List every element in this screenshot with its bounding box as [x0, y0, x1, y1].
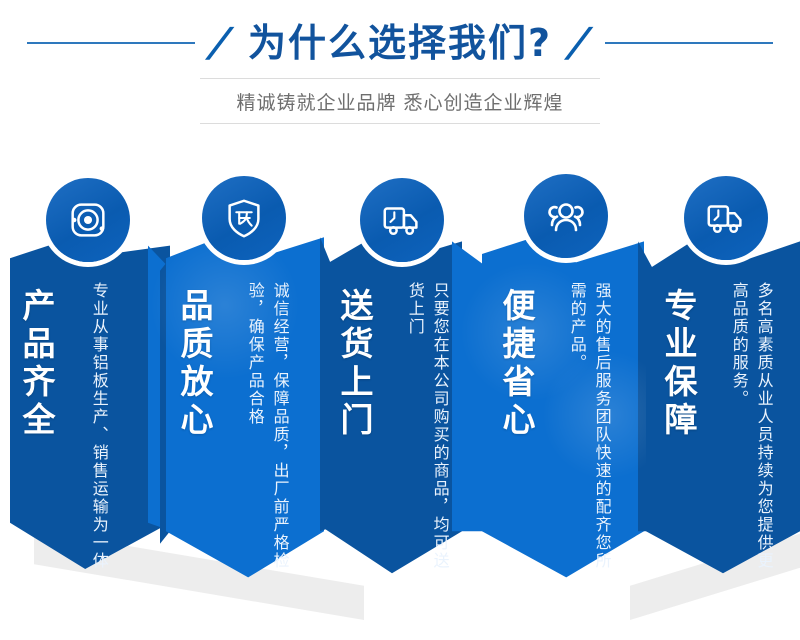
feature-ribbon: 产品齐全 专业从事铝板生产、销售运输为一体 品质放心 诚信经营，保障品质，出厂前…: [0, 170, 800, 640]
feature-panel-3[interactable]: 送货上门 只要您在本公司购买的商品，均可送货上门: [322, 170, 490, 640]
panel-3-title: 送货上门: [336, 288, 371, 440]
page-header: / 为什么选择我们? / 精诚铸就企业品牌 悉心创造企业辉煌: [0, 0, 800, 150]
subtitle-rule-bottom: [200, 123, 600, 124]
header-rule-left: [27, 42, 195, 44]
feature-panel-1[interactable]: 产品齐全 专业从事铝板生产、销售运输为一体: [0, 170, 170, 640]
panel-1-desc: 专业从事铝板生产、销售运输为一体: [86, 282, 111, 570]
delivery-truck-icon[interactable]: [684, 176, 768, 260]
panel-2-title: 品质放心: [176, 288, 211, 440]
people-group-icon[interactable]: [524, 174, 608, 258]
subtitle-block: 精诚铸就企业品牌 悉心创造企业辉煌: [200, 78, 600, 124]
title-row: / 为什么选择我们? /: [0, 14, 800, 72]
panel-1-title: 产品齐全: [18, 288, 53, 440]
page-title: 为什么选择我们?: [234, 24, 566, 62]
feature-panel-2[interactable]: 品质放心 诚信经营，保障品质，出厂前严格检验，确保产品合格: [160, 170, 330, 640]
panel-4-desc: 强大的售后服务团队快速的配齐您所需的产品。: [564, 282, 614, 582]
panel-3-desc: 只要您在本公司购买的商品，均可送货上门: [402, 282, 452, 582]
feature-panel-5[interactable]: 专业保障 多名高素质从业人员持续为您提供更高品质的服务。: [646, 170, 800, 640]
slash-right-icon: /: [561, 23, 598, 63]
panel-4-title: 便捷省心: [498, 288, 533, 440]
page-subtitle: 精诚铸就企业品牌 悉心创造企业辉煌: [200, 79, 600, 123]
panel-2-desc: 诚信经营，保障品质，出厂前严格检验，确保产品合格: [242, 282, 292, 582]
feature-panel-4[interactable]: 便捷省心 强大的售后服务团队快速的配齐您所需的产品。: [482, 170, 654, 640]
product-box-icon[interactable]: [46, 178, 130, 262]
panel-5-title: 专业保障: [660, 288, 695, 440]
panel-5-desc: 多名高素质从业人员持续为您提供更高品质的服务。: [726, 282, 776, 582]
header-rule-right: [605, 42, 773, 44]
shield-quality-icon[interactable]: [202, 176, 286, 260]
delivery-truck-icon[interactable]: [360, 178, 444, 262]
